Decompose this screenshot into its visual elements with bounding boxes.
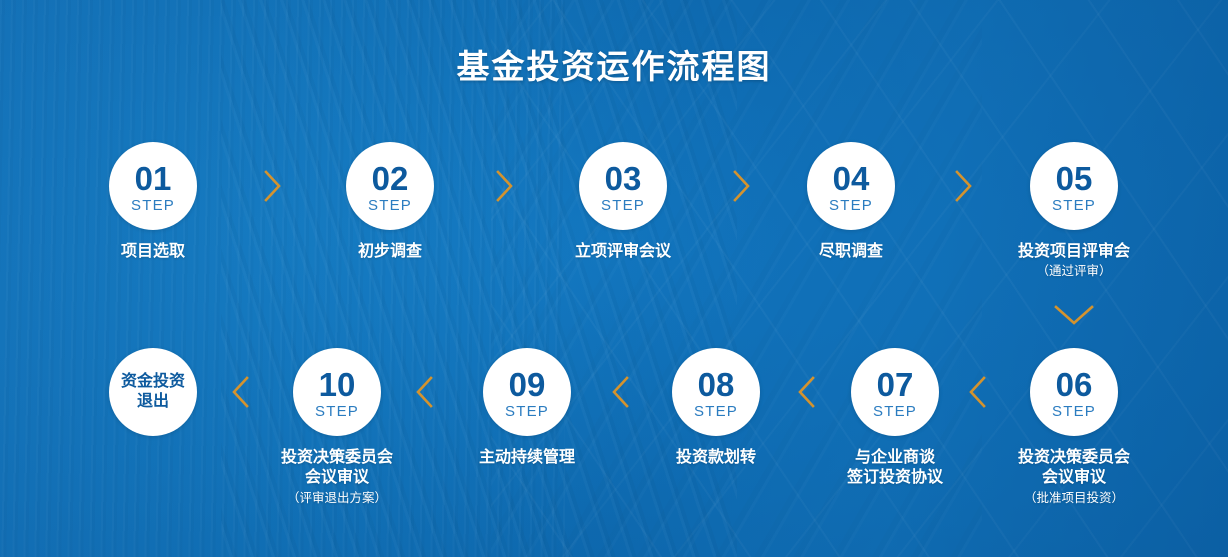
step-number-09: 09 xyxy=(509,368,546,401)
step-sublabel-05: （通过评审） xyxy=(974,264,1174,280)
step-sublabel-10: （评审退出方案） xyxy=(237,491,437,507)
step-label-02: 初步调查 xyxy=(290,242,490,262)
step-circle-04[interactable]: 04 STEP xyxy=(807,142,895,230)
step-node-03[interactable]: 03 STEP 立项评审会议 xyxy=(523,142,723,264)
step-word-06: STEP xyxy=(1052,404,1096,419)
step-node-01[interactable]: 01 STEP 项目选取 xyxy=(53,142,253,264)
step-word-05: STEP xyxy=(1052,198,1096,213)
terminal-circle[interactable]: 资金投资 退出 xyxy=(109,348,197,436)
step-node-08[interactable]: 08 STEP 投资款划转 xyxy=(616,348,816,470)
step-label-04: 尽职调查 xyxy=(751,242,951,262)
chevron-down-icon xyxy=(1052,303,1096,327)
step-circle-01[interactable]: 01 STEP xyxy=(109,142,197,230)
step-circle-06[interactable]: 06 STEP xyxy=(1030,348,1118,436)
step-number-07: 07 xyxy=(877,368,914,401)
step-circle-07[interactable]: 07 STEP xyxy=(851,348,939,436)
page-title: 基金投资运作流程图 xyxy=(0,40,1228,88)
step-node-02[interactable]: 02 STEP 初步调查 xyxy=(290,142,490,264)
step-word-01: STEP xyxy=(131,198,175,213)
step-circle-05[interactable]: 05 STEP xyxy=(1030,142,1118,230)
step-number-05: 05 xyxy=(1056,162,1093,195)
step-word-02: STEP xyxy=(368,198,412,213)
step-word-03: STEP xyxy=(601,198,645,213)
chevron-right-icon xyxy=(494,169,516,203)
step-number-03: 03 xyxy=(605,162,642,195)
chevron-right-icon xyxy=(262,169,284,203)
step-node-09[interactable]: 09 STEP 主动持续管理 xyxy=(427,348,627,470)
step-word-08: STEP xyxy=(694,404,738,419)
chevron-right-icon xyxy=(953,169,975,203)
step-number-01: 01 xyxy=(135,162,172,195)
step-label-08: 投资款划转 xyxy=(616,448,816,468)
step-label-07: 与企业商谈 签订投资协议 xyxy=(795,448,995,489)
terminal-node-exit[interactable]: 资金投资 退出 xyxy=(53,348,253,436)
step-label-06: 投资决策委员会 会议审议 xyxy=(974,448,1174,489)
step-label-10: 投资决策委员会 会议审议 xyxy=(237,448,437,489)
step-label-09: 主动持续管理 xyxy=(427,448,627,468)
step-circle-03[interactable]: 03 STEP xyxy=(579,142,667,230)
step-node-04[interactable]: 04 STEP 尽职调查 xyxy=(751,142,951,264)
step-sublabel-06: （批准项目投资） xyxy=(974,491,1174,507)
step-number-06: 06 xyxy=(1056,368,1093,401)
step-node-10[interactable]: 10 STEP 投资决策委员会 会议审议 （评审退出方案） xyxy=(237,348,437,507)
step-node-06[interactable]: 06 STEP 投资决策委员会 会议审议 （批准项目投资） xyxy=(974,348,1174,507)
step-word-09: STEP xyxy=(505,404,549,419)
step-circle-10[interactable]: 10 STEP xyxy=(293,348,381,436)
step-label-03: 立项评审会议 xyxy=(523,242,723,262)
step-word-07: STEP xyxy=(873,404,917,419)
chevron-right-icon xyxy=(731,169,753,203)
step-label-05: 投资项目评审会 xyxy=(974,242,1174,262)
step-word-10: STEP xyxy=(315,404,359,419)
step-circle-08[interactable]: 08 STEP xyxy=(672,348,760,436)
step-number-04: 04 xyxy=(833,162,870,195)
step-node-05[interactable]: 05 STEP 投资项目评审会 （通过评审） xyxy=(974,142,1174,280)
step-word-04: STEP xyxy=(829,198,873,213)
step-number-02: 02 xyxy=(372,162,409,195)
step-number-10: 10 xyxy=(319,368,356,401)
step-circle-02[interactable]: 02 STEP xyxy=(346,142,434,230)
step-number-08: 08 xyxy=(698,368,735,401)
flowchart-canvas: 基金投资运作流程图 01 STEP 项目选取 02 STEP 初步调查 03 S… xyxy=(0,0,1228,557)
step-label-01: 项目选取 xyxy=(53,242,253,262)
step-node-07[interactable]: 07 STEP 与企业商谈 签订投资协议 xyxy=(795,348,995,491)
terminal-label: 资金投资 退出 xyxy=(121,372,185,412)
step-circle-09[interactable]: 09 STEP xyxy=(483,348,571,436)
